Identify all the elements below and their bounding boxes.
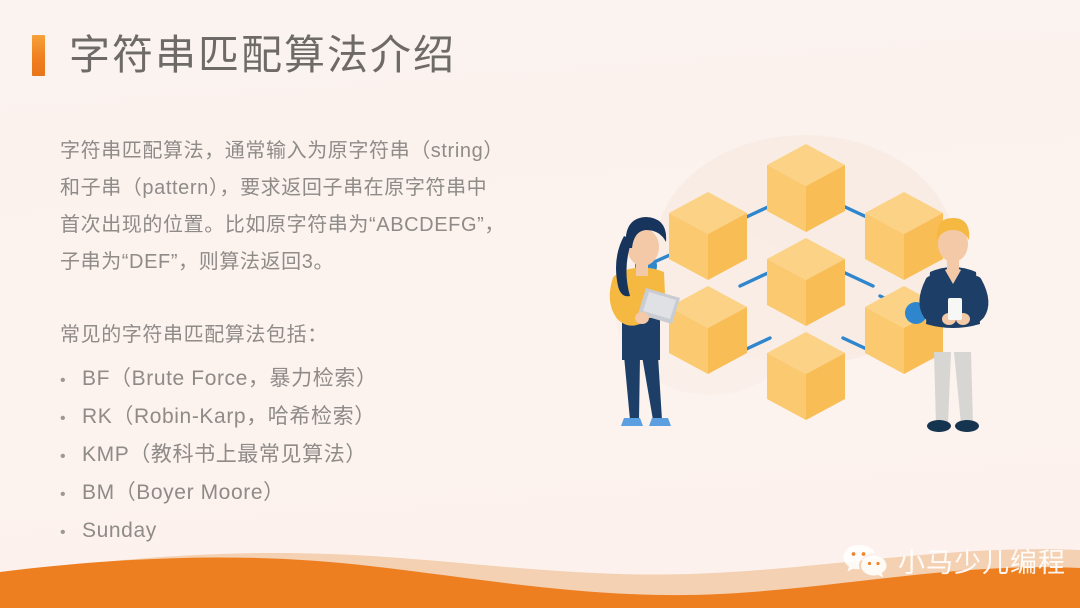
bullet-icon: • [60, 401, 82, 437]
list-item: • RK（Robin-Karp，哈希检索） [60, 399, 530, 437]
man-leg-right [954, 352, 973, 424]
list-item-label: KMP（教科书上最常见算法） [82, 437, 367, 473]
paragraph-line: 首次出现的位置。比如原字符串为“ABCDEFG”， [60, 207, 530, 244]
list-item: • BM（Boyer Moore） [60, 475, 530, 513]
man-phone [948, 298, 962, 320]
intro-paragraph: 字符串匹配算法，通常输入为原字符串（string） 和子串（pattern），要… [60, 133, 530, 281]
blockchain-network-illustration [590, 120, 1010, 450]
woman-shoe-right [649, 418, 671, 426]
page-title: 字符串匹配算法介绍 [32, 33, 456, 77]
bullet-icon: • [60, 363, 82, 399]
title-accent-bar [32, 35, 45, 76]
body-content: 字符串匹配算法，通常输入为原字符串（string） 和子串（pattern），要… [60, 133, 530, 551]
woman-shoe-left [621, 418, 643, 426]
watermark-label: 小马少儿编程 [898, 549, 1066, 577]
bullet-icon: • [60, 477, 82, 513]
wechat-icon [842, 543, 888, 582]
list-item-label: BF（Brute Force，暴力检索） [82, 361, 378, 397]
man-shoe-right [955, 420, 979, 432]
list-item: • KMP（教科书上最常见算法） [60, 437, 530, 475]
woman-hand [635, 312, 649, 324]
paragraph-line: 和子串（pattern），要求返回子串在原字符串中 [60, 170, 530, 207]
man-shoe-left [927, 420, 951, 432]
list-item-label: BM（Boyer Moore） [82, 475, 285, 511]
slide-root: 字符串匹配算法介绍 字符串匹配算法，通常输入为原字符串（string） 和子串（… [0, 0, 1080, 608]
paragraph-line: 子串为“DEF”，则算法返回3。 [60, 244, 530, 281]
list-item-label: RK（Robin-Karp，哈希检索） [82, 399, 376, 435]
list-item: • BF（Brute Force，暴力检索） [60, 361, 530, 399]
paragraph-line: 字符串匹配算法，通常输入为原字符串（string） [60, 133, 530, 170]
bullet-icon: • [60, 439, 82, 475]
watermark: 小马少儿编程 [842, 543, 1066, 582]
woman-leg-left [624, 356, 640, 420]
list-intro-label: 常见的字符串匹配算法包括： [60, 317, 530, 353]
man-leg-left [934, 352, 951, 424]
page-title-label: 字符串匹配算法介绍 [69, 33, 456, 77]
